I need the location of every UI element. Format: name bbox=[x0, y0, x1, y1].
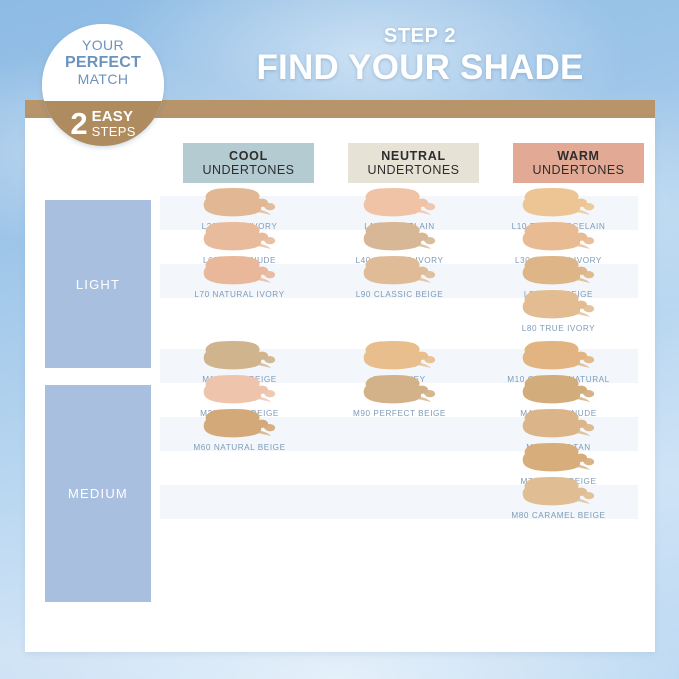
badge-line-match: MATCH bbox=[78, 72, 129, 88]
foundation-swatch-icon bbox=[198, 407, 282, 441]
badge-bottom-half: 2 EASY STEPS bbox=[42, 101, 164, 146]
foundation-swatch-icon bbox=[358, 186, 442, 220]
foundation-swatch-icon bbox=[358, 254, 442, 288]
shade-row: M80 CARAMEL BEIGE bbox=[160, 485, 638, 519]
foundation-swatch-icon bbox=[517, 441, 601, 475]
column-header-warm-name: WARM bbox=[557, 149, 599, 163]
shade-cell-m90[interactable]: M90 PERFECT BEIGE bbox=[320, 383, 479, 417]
shade-cell-empty bbox=[160, 451, 319, 485]
column-header-warm-sub: UNDERTONES bbox=[532, 163, 624, 177]
shade-grid: L20 LIGHT IVORYL15 PORCELAINL10 FAIR POR… bbox=[160, 196, 638, 519]
foundation-swatch-icon bbox=[198, 186, 282, 220]
badge-step-words: EASY STEPS bbox=[92, 109, 136, 138]
shade-cell-empty bbox=[160, 485, 319, 519]
shade-cell-empty bbox=[320, 298, 479, 332]
tone-block-medium: MEDIUM bbox=[45, 385, 151, 602]
badge-word-easy: EASY bbox=[92, 109, 136, 124]
shade-cell-m60[interactable]: M60 NATURAL BEIGE bbox=[160, 417, 319, 451]
foundation-swatch-icon bbox=[517, 254, 601, 288]
foundation-swatch-icon bbox=[198, 220, 282, 254]
column-header-neutral-name: NEUTRAL bbox=[381, 149, 446, 163]
shade-cell-empty bbox=[320, 451, 479, 485]
shade-cell-empty bbox=[320, 485, 479, 519]
shade-cell-l90[interactable]: L90 CLASSIC BEIGE bbox=[320, 264, 479, 298]
shade-row: L80 TRUE IVORY bbox=[160, 298, 638, 332]
shade-cell-l80[interactable]: L80 TRUE IVORY bbox=[479, 298, 638, 332]
column-header-cool-sub: UNDERTONES bbox=[202, 163, 294, 177]
shade-cell-empty bbox=[320, 417, 479, 451]
badge-word-steps: STEPS bbox=[92, 125, 136, 138]
foundation-swatch-icon bbox=[198, 339, 282, 373]
tone-block-light: LIGHT bbox=[45, 200, 151, 368]
column-header-cool: COOL UNDERTONES bbox=[183, 143, 314, 183]
shade-cell-l70[interactable]: L70 NATURAL IVORY bbox=[160, 264, 319, 298]
foundation-swatch-icon bbox=[358, 339, 442, 373]
foundation-swatch-icon bbox=[358, 373, 442, 407]
column-header-neutral: NEUTRAL UNDERTONES bbox=[348, 143, 479, 183]
perfect-match-badge: YOUR PERFECT MATCH 2 EASY STEPS bbox=[42, 24, 164, 146]
foundation-swatch-icon bbox=[517, 186, 601, 220]
foundation-swatch-icon bbox=[517, 475, 601, 509]
foundation-swatch-icon bbox=[198, 373, 282, 407]
foundation-swatch-icon bbox=[517, 407, 601, 441]
shade-label: M80 CARAMEL BEIGE bbox=[479, 511, 638, 520]
badge-line-your: YOUR bbox=[82, 38, 124, 54]
foundation-swatch-icon bbox=[517, 220, 601, 254]
foundation-swatch-icon bbox=[517, 288, 601, 322]
column-header-warm: WARM UNDERTONES bbox=[513, 143, 644, 183]
foundation-swatch-icon bbox=[517, 339, 601, 373]
foundation-swatch-icon bbox=[198, 254, 282, 288]
shade-cell-empty bbox=[160, 298, 319, 332]
badge-top-half: YOUR PERFECT MATCH bbox=[42, 24, 164, 101]
column-header-cool-name: COOL bbox=[229, 149, 268, 163]
column-header-neutral-sub: UNDERTONES bbox=[367, 163, 459, 177]
foundation-swatch-icon bbox=[358, 220, 442, 254]
badge-line-perfect: PERFECT bbox=[65, 54, 141, 72]
shade-cell-m80[interactable]: M80 CARAMEL BEIGE bbox=[479, 485, 638, 519]
foundation-swatch-icon bbox=[517, 373, 601, 407]
badge-step-number: 2 bbox=[70, 110, 87, 137]
